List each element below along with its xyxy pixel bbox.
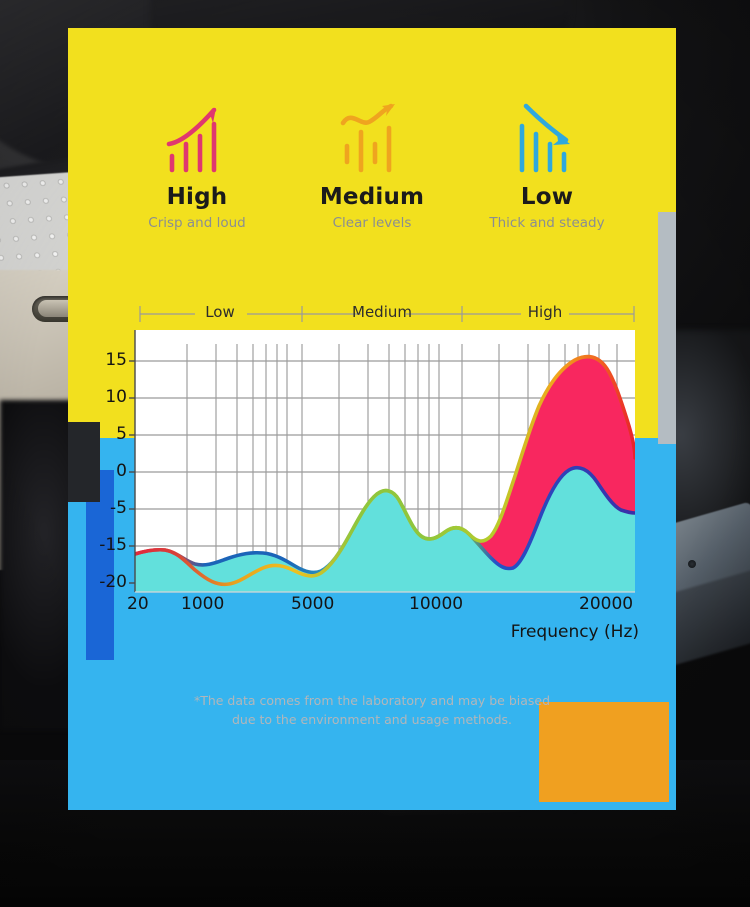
y-tick-label: 10 bbox=[81, 387, 127, 407]
band-label-medium: Medium bbox=[327, 303, 437, 321]
disclaimer-line-1: *The data comes from the laboratory and … bbox=[194, 693, 550, 708]
feature-subtitle: Clear levels bbox=[333, 215, 412, 231]
bar-chart-wave-arrow-icon bbox=[337, 96, 407, 174]
feature-title: High bbox=[167, 184, 228, 210]
feature-row: High Crisp and loud Medium Clear levels bbox=[112, 96, 632, 266]
y-axis-ticks bbox=[129, 361, 135, 583]
x-tick-label: 5000 bbox=[291, 594, 334, 614]
feature-high: High Crisp and loud bbox=[112, 96, 282, 231]
y-tick-label: -5 bbox=[81, 498, 127, 518]
frame-block-gray bbox=[658, 212, 676, 444]
x-tick-label: 20 bbox=[127, 594, 149, 614]
bar-chart-up-arrow-icon bbox=[162, 96, 232, 174]
band-label-low: Low bbox=[165, 303, 275, 321]
disclaimer-line-2: due to the environment and usage methods… bbox=[232, 712, 512, 727]
x-tick-label: 20000 bbox=[579, 594, 633, 614]
feature-title: Low bbox=[521, 184, 573, 210]
x-axis-title: Frequency (Hz) bbox=[511, 622, 639, 642]
y-tick-label: 5 bbox=[81, 424, 127, 444]
y-tick-label: 0 bbox=[81, 461, 127, 481]
y-tick-label: -15 bbox=[81, 535, 127, 555]
disclaimer-note: *The data comes from the laboratory and … bbox=[139, 692, 605, 730]
y-tick-label: -20 bbox=[81, 572, 127, 592]
feature-title: Medium bbox=[320, 184, 424, 210]
x-tick-label: 1000 bbox=[181, 594, 224, 614]
plot-area bbox=[99, 330, 645, 630]
feature-subtitle: Thick and steady bbox=[489, 215, 604, 231]
feature-subtitle: Crisp and loud bbox=[148, 215, 245, 231]
band-label-high: High bbox=[490, 303, 600, 321]
feature-medium: Medium Clear levels bbox=[287, 96, 457, 231]
band-ruler: Low Medium High bbox=[99, 296, 645, 330]
bar-chart-down-arrow-icon bbox=[512, 96, 582, 174]
feature-low: Low Thick and steady bbox=[462, 96, 632, 231]
frequency-response-chart: Low Medium High bbox=[99, 296, 645, 666]
y-tick-label: 15 bbox=[81, 350, 127, 370]
x-tick-label: 10000 bbox=[409, 594, 463, 614]
